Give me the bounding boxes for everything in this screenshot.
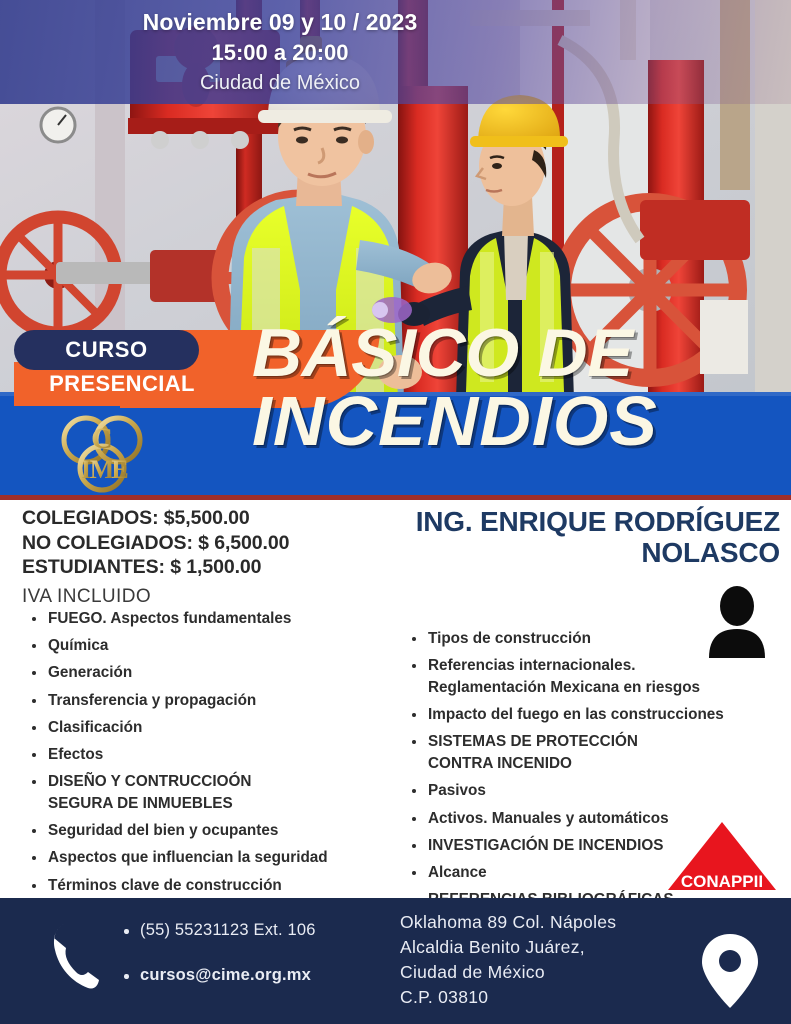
topic-text: Generación bbox=[48, 664, 132, 681]
list-item: Tipos de construcción bbox=[408, 628, 778, 650]
address-block: Oklahoma 89 Col. Nápoles Alcaldia Benito… bbox=[400, 910, 700, 1009]
topic-text: Efectos bbox=[48, 746, 103, 763]
list-item: Efectos bbox=[28, 744, 408, 766]
iva-note: IVA INCLUIDO bbox=[22, 586, 352, 608]
badge-curso-label: CURSO bbox=[65, 337, 147, 363]
address-line-1: Oklahoma 89 Col. Nápoles bbox=[400, 910, 700, 935]
list-item: Términos clave de construcción bbox=[28, 875, 408, 897]
svg-text:E: E bbox=[111, 455, 128, 484]
topics-list-left: FUEGO. Aspectos fundamentales Química Ge… bbox=[28, 608, 408, 945]
event-time: 15:00 a 20:00 bbox=[212, 39, 349, 67]
badge-curso: CURSO bbox=[14, 330, 199, 370]
price-colegiados: COLEGIADOS: $5,500.00 bbox=[22, 506, 352, 531]
topic-text: Aspectos que influencian la seguridad bbox=[48, 849, 328, 866]
cime-logo-icon: C I M E bbox=[56, 408, 148, 496]
list-item: Clasificación bbox=[28, 717, 408, 739]
event-city: Ciudad de México bbox=[200, 70, 360, 96]
topic-text: Pasivos bbox=[428, 782, 486, 799]
instructor-name-line1: ING. ENRIQUE RODRÍGUEZ bbox=[330, 506, 780, 537]
phone-icon bbox=[46, 920, 102, 992]
price-estudiantes: ESTUDIANTES: $ 1,500.00 bbox=[22, 555, 352, 580]
list-item: Impacto del fuego en las construcciones bbox=[408, 704, 778, 726]
topic-text: Transferencia y propagación bbox=[48, 692, 256, 709]
topic-text: Términos clave de construcción bbox=[48, 877, 282, 894]
topic-text: SISTEMAS DE PROTECCIÓN bbox=[428, 733, 638, 750]
header-text-block: Noviembre 09 y 10 / 2023 15:00 a 20:00 C… bbox=[0, 0, 560, 104]
topic-text: Seguridad del bien y ocupantes bbox=[48, 822, 278, 839]
topic-text: Referencias internacionales. bbox=[428, 657, 635, 674]
topic-text: Química bbox=[48, 637, 108, 654]
contact-email[interactable]: cursos@cime.org.mx bbox=[122, 965, 382, 986]
topic-text: Impacto del fuego en las construcciones bbox=[428, 706, 724, 723]
list-item: Aspectos que influencian la seguridad bbox=[28, 847, 408, 869]
list-item: DISEÑO Y CONTRUCCIOÓN SEGURA DE INMUEBLE… bbox=[28, 771, 408, 814]
topic-text: Clasificación bbox=[48, 719, 142, 736]
address-line-2: Alcaldia Benito Juárez, bbox=[400, 935, 700, 960]
topic-text-cont: SEGURA DE INMUEBLES bbox=[48, 793, 408, 815]
topic-text: Alcance bbox=[428, 864, 487, 881]
location-pin-icon bbox=[700, 932, 760, 1010]
list-item: Seguridad del bien y ocupantes bbox=[28, 820, 408, 842]
list-item: Pasivos bbox=[408, 780, 778, 802]
list-item: Química bbox=[28, 635, 408, 657]
pricing-block: COLEGIADOS: $5,500.00 NO COLEGIADOS: $ 6… bbox=[22, 506, 352, 608]
topic-text-cont: Reglamentación Mexicana en riesgos bbox=[428, 677, 778, 699]
course-title: BÁSICO DE INCENDIOS bbox=[252, 322, 791, 453]
instructor-name-line2: NOLASCO bbox=[330, 537, 780, 568]
topic-text-cont: CONTRA INCENIDO bbox=[428, 753, 778, 775]
contact-phone[interactable]: (55) 55231123 Ext. 106 bbox=[122, 920, 382, 941]
instructor-name: ING. ENRIQUE RODRÍGUEZ NOLASCO bbox=[330, 506, 780, 569]
course-title-line1: BÁSICO DE bbox=[252, 322, 791, 385]
conappii-logo-icon: CONAPPII bbox=[664, 818, 780, 894]
list-item: Transferencia y propagación bbox=[28, 690, 408, 712]
topic-text: FUEGO. Aspectos fundamentales bbox=[48, 610, 291, 627]
topic-text: Tipos de construcción bbox=[428, 630, 591, 647]
topic-text: DISEÑO Y CONTRUCCIOÓN bbox=[48, 773, 251, 790]
address-line-4: C.P. 03810 bbox=[400, 985, 700, 1010]
address-line-3: Ciudad de México bbox=[400, 960, 700, 985]
course-poster: Noviembre 09 y 10 / 2023 15:00 a 20:00 C… bbox=[0, 0, 791, 1024]
list-item: Generación bbox=[28, 662, 408, 684]
course-title-line2: INCENDIOS bbox=[252, 389, 791, 453]
contact-list: (55) 55231123 Ext. 106 cursos@cime.org.m… bbox=[122, 920, 382, 1011]
badge-presencial-label: PRESENCIAL bbox=[49, 371, 195, 397]
list-item: FUEGO. Aspectos fundamentales bbox=[28, 608, 408, 630]
topic-text: INVESTIGACIÓN DE INCENDIOS bbox=[428, 837, 663, 854]
list-item: SISTEMAS DE PROTECCIÓN CONTRA INCENIDO bbox=[408, 731, 778, 774]
price-no-colegiados: NO COLEGIADOS: $ 6,500.00 bbox=[22, 531, 352, 556]
event-date: Noviembre 09 y 10 / 2023 bbox=[143, 8, 418, 37]
list-item: Referencias internacionales. Reglamentac… bbox=[408, 655, 778, 698]
topic-text: Activos. Manuales y automáticos bbox=[428, 810, 669, 827]
conappii-label: CONAPPII bbox=[681, 872, 763, 891]
svg-text:C: C bbox=[91, 422, 113, 455]
